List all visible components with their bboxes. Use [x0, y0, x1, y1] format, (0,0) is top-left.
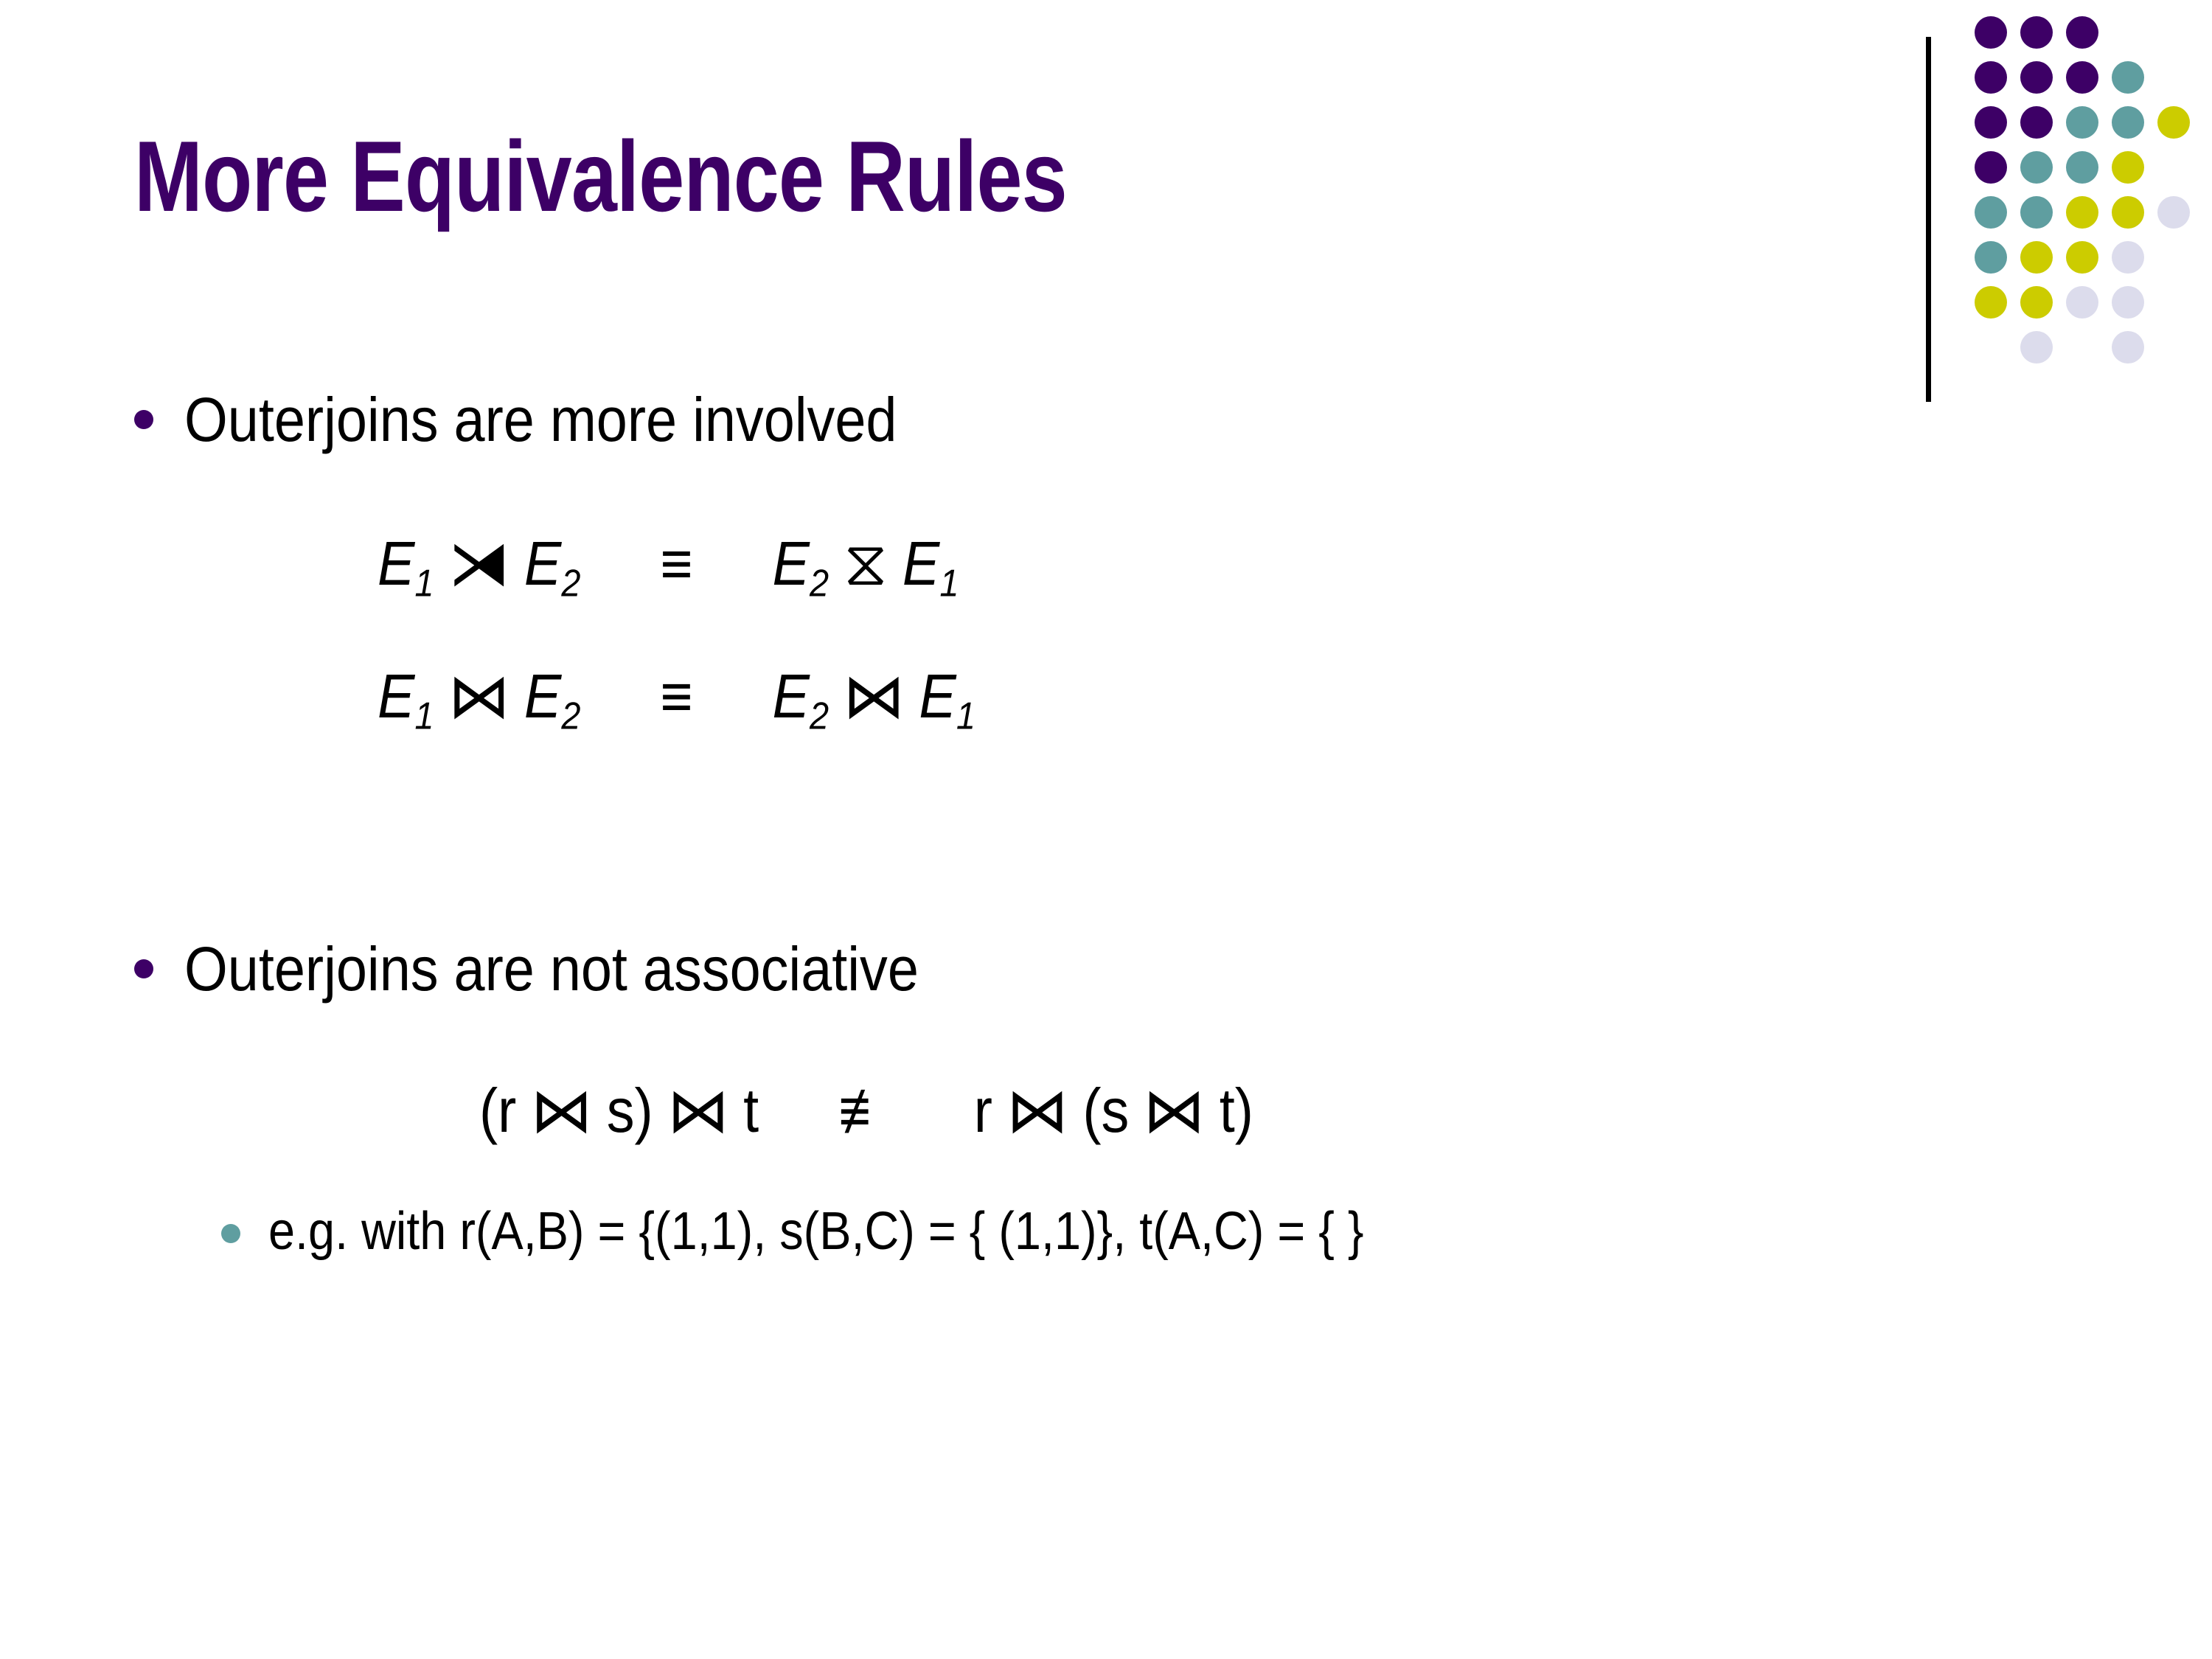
left-outer-join-icon: ⧕: [448, 529, 510, 597]
formula-outerjoin-associativity: (r⋈s)⋈t≢r⋈(s⋈t): [479, 1077, 1253, 1144]
operand-E1: E1: [378, 529, 434, 598]
join-icon-a: ⋈: [530, 1077, 593, 1144]
full-outer-join-icon-b: ⋈: [843, 662, 905, 730]
bullet-item-outerjoins-not-associative: Outerjoins are not associative: [134, 933, 1001, 1006]
operand-E2-b: E2: [773, 529, 829, 598]
sub-bullet-text: e.g. with r(A,B) = {(1,1), s(B,C) = { (1…: [268, 1200, 2017, 1263]
join-icon-d: ⋈: [1143, 1077, 1206, 1144]
bullet-item-outerjoins-involved: Outerjoins are more involved: [134, 383, 976, 456]
operand-E1-b: E1: [919, 661, 975, 731]
lhs-open-paren-r: (r: [479, 1076, 516, 1145]
bullet-text: Outerjoins are not associative: [184, 933, 919, 1006]
formula-outerjoin-commutativity-2: E1⋈E2≡E2⋈E1: [378, 662, 975, 738]
rhs-open-paren-s: (s: [1082, 1076, 1129, 1145]
operand-E1: E1: [378, 661, 434, 731]
join-icon-b: ⋈: [667, 1077, 730, 1144]
not-equivalent-icon: ≢: [838, 1076, 894, 1145]
lhs-s-close-paren: s): [607, 1076, 653, 1145]
join-icon-c: ⋈: [1006, 1077, 1069, 1144]
sub-bullet-marker-icon: [221, 1224, 240, 1243]
bullet-marker-icon: [134, 959, 153, 978]
operand-E2: E2: [524, 529, 581, 598]
full-outer-join-icon: ⋈: [448, 662, 510, 730]
rhs-r: r: [974, 1076, 992, 1145]
slide-body: Outerjoins are more involved E1⧕E2≡E2⧖E1…: [0, 0, 2212, 1659]
formula-outerjoin-commutativity-1: E1⧕E2≡E2⧖E1: [378, 529, 959, 605]
operand-E1-b: E1: [902, 529, 959, 598]
equivalence-icon: ≡: [660, 661, 692, 731]
bullet-marker-icon: [134, 410, 153, 429]
bullet-text: Outerjoins are more involved: [184, 383, 897, 456]
sub-bullet-item-example: e.g. with r(A,B) = {(1,1), s(B,C) = { (1…: [221, 1200, 2212, 1263]
rhs-t-close-paren: t): [1220, 1076, 1253, 1145]
operand-E2: E2: [524, 661, 581, 731]
operand-E2-b: E2: [773, 661, 829, 731]
right-outer-join-icon: ⧖: [844, 529, 887, 597]
slide-canvas: More Equivalence Rules Outerjoins are mo…: [0, 0, 2212, 1659]
lhs-t: t: [743, 1076, 759, 1145]
equivalence-icon: ≡: [660, 529, 692, 598]
